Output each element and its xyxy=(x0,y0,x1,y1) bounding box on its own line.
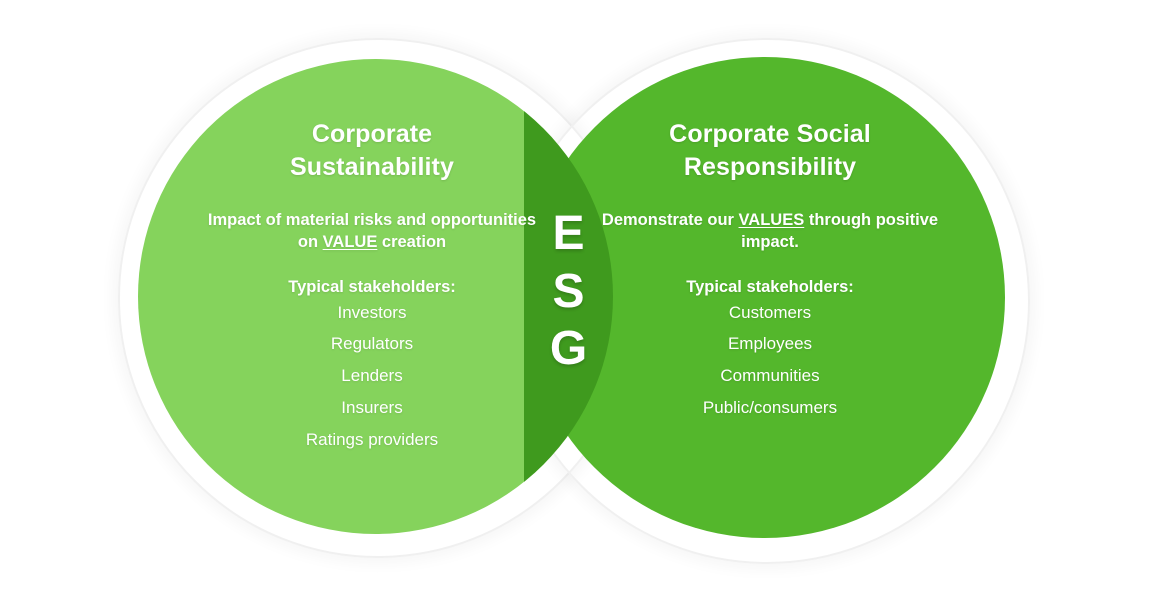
right-circle-title-line2: Responsibility xyxy=(684,153,856,181)
left-circle-title-line2: Sustainability xyxy=(290,153,454,181)
list-item: Regulators xyxy=(196,328,548,360)
right-circle-title: Corporate Social Responsibility xyxy=(600,118,940,183)
left-stakeholder-list: Investors Regulators Lenders Insurers Ra… xyxy=(196,297,548,457)
right-stakeholder-list: Customers Employees Communities Public/c… xyxy=(600,297,940,425)
right-statement-before: Demonstrate our xyxy=(602,211,739,229)
list-item: Employees xyxy=(600,328,940,360)
left-statement-emphasis: VALUE xyxy=(323,233,378,251)
list-item: Lenders xyxy=(196,360,548,392)
right-circle-content: Corporate Social Responsibility Demonstr… xyxy=(600,118,940,424)
list-item: Public/consumers xyxy=(600,392,940,424)
venn-diagram: Corporate Sustainability Impact of mater… xyxy=(0,0,1157,595)
right-statement-emphasis: VALUES xyxy=(739,211,805,229)
right-stakeholders-label: Typical stakeholders: xyxy=(600,278,940,297)
list-item: Investors xyxy=(196,297,548,329)
left-circle-title-line1: Corporate xyxy=(312,120,432,148)
right-circle-title-line1: Corporate Social xyxy=(669,120,871,148)
list-item: Customers xyxy=(600,297,940,329)
list-item: Ratings providers xyxy=(196,424,548,456)
left-circle-title: Corporate Sustainability xyxy=(196,118,548,183)
list-item: Communities xyxy=(600,360,940,392)
left-circle-statement: Impact of material risks and opportuniti… xyxy=(196,209,548,254)
right-circle-statement: Demonstrate our VALUES through positive … xyxy=(600,209,940,254)
left-circle-content: Corporate Sustainability Impact of mater… xyxy=(196,118,548,456)
left-statement-after: creation xyxy=(377,233,446,251)
list-item: Insurers xyxy=(196,392,548,424)
left-stakeholders-label: Typical stakeholders: xyxy=(196,278,548,297)
